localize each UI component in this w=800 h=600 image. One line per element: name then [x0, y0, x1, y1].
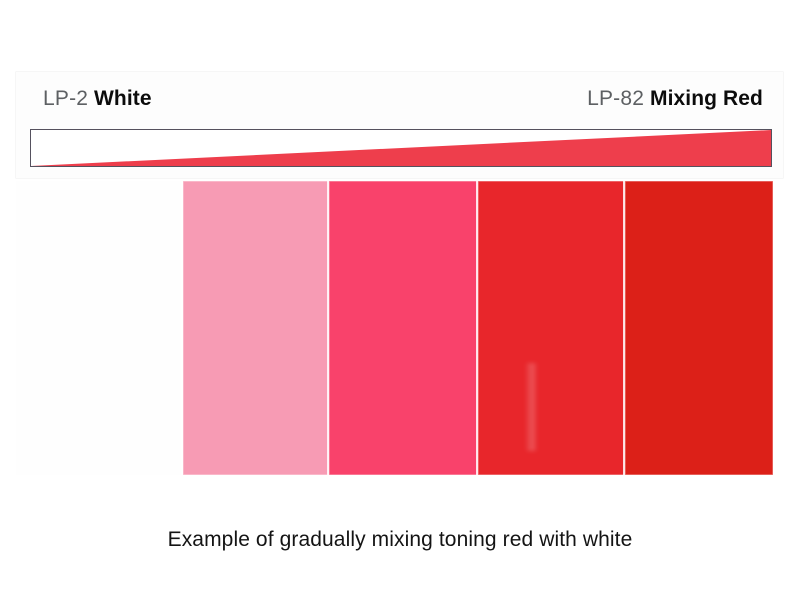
- label-right-name: Mixing Red: [650, 87, 763, 110]
- label-right-code: LP-82: [587, 87, 644, 110]
- swatch-deep-red-face: [625, 181, 773, 475]
- swatch-white[interactable]: [16, 181, 183, 475]
- wedge-shape: [31, 130, 771, 166]
- swatch-light-pink-face: [183, 181, 329, 475]
- gradient-wedge-bar: [30, 129, 772, 167]
- label-right: LP-82 Mixing Red: [587, 82, 763, 116]
- figure-caption: Example of gradually mixing toning red w…: [0, 528, 800, 552]
- swatch-light-pink[interactable]: [183, 181, 329, 475]
- color-mixing-figure: LP-2 White LP-82 Mixing Red: [0, 0, 800, 600]
- scale-label-row: LP-2 White LP-82 Mixing Red: [16, 82, 783, 126]
- swatch-strip: [16, 181, 773, 475]
- scale-panel: LP-2 White LP-82 Mixing Red: [16, 72, 783, 178]
- swatch-red-face: [478, 181, 625, 475]
- label-left: LP-2 White: [43, 82, 152, 116]
- swatch-hot-pink[interactable]: [329, 181, 478, 475]
- label-left-name: White: [94, 87, 152, 110]
- label-left-code: LP-2: [43, 87, 88, 110]
- swatch-red[interactable]: [478, 181, 625, 475]
- swatch-white-face: [16, 181, 183, 475]
- swatch-hot-pink-face: [329, 181, 478, 475]
- swatch-deep-red[interactable]: [625, 181, 773, 475]
